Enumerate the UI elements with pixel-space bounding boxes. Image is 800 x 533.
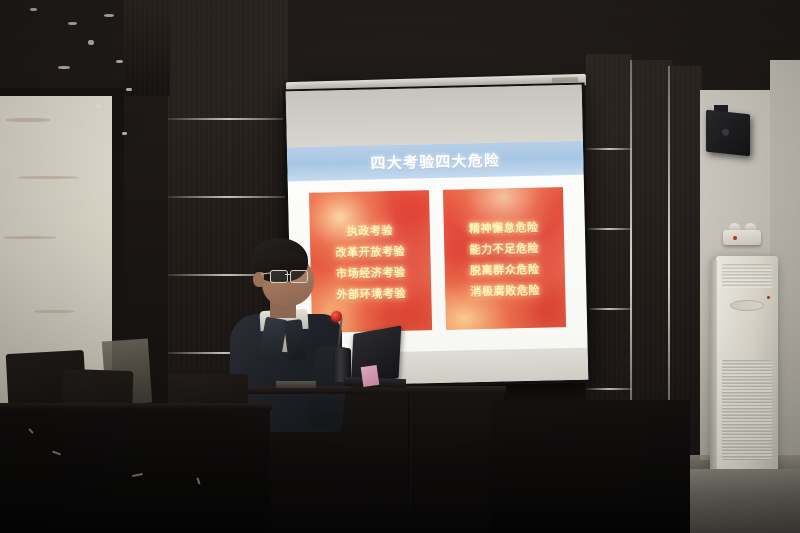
- ac-brand-badge: [730, 300, 764, 311]
- four-dangers-line-3: 脱离群众危险: [470, 260, 540, 278]
- four-dangers-line-1: 精神懈怠危险: [469, 218, 539, 236]
- pink-desk-item[interactable]: [361, 365, 380, 387]
- chrome-trim-h-6: [586, 228, 632, 230]
- chrome-trim-h-7: [586, 308, 632, 310]
- ac-intake-grille: [722, 360, 772, 460]
- board-smudge-3: [4, 236, 56, 239]
- glasses-lens-right: [290, 270, 308, 283]
- four-dangers-lines: 精神懈怠危险 能力不足危险 脱离群众危险 消极腐败危险: [443, 187, 566, 330]
- wall-mounted-loudspeaker: [706, 110, 750, 157]
- microphone-head-icon[interactable]: [331, 311, 342, 322]
- ac-power-led-icon: [767, 296, 770, 299]
- board-smudge-1: [6, 118, 50, 122]
- ac-outlet-grille: [722, 264, 772, 288]
- wall-speck-4: [104, 14, 114, 17]
- four-dangers-line-2: 能力不足危险: [469, 239, 539, 257]
- presenter-table-edge: [234, 386, 506, 394]
- board-smudge-4: [34, 310, 74, 313]
- wall-speck-2: [68, 22, 77, 25]
- speaker-driver-icon: [722, 128, 729, 136]
- presenter-glasses-icon: [270, 270, 312, 281]
- board-smudge-2: [18, 176, 78, 179]
- emergency-indicator-icon: [733, 236, 737, 240]
- wall-speck-7: [58, 66, 70, 69]
- screen-blank-top: [286, 85, 583, 150]
- wall-speck-9: [122, 132, 127, 135]
- wall-speck-5: [116, 60, 123, 63]
- ac-side-face: [710, 260, 717, 470]
- wall-speck-8: [96, 104, 101, 108]
- glasses-lens-left: [270, 270, 288, 283]
- foreground-table-edge: [0, 403, 272, 410]
- presenter-forehead-shading: [262, 252, 308, 266]
- four-tests-line-3: 市场经济考验: [336, 263, 406, 281]
- glasses-bridge: [285, 274, 291, 275]
- right-foreground-surface: [490, 400, 690, 533]
- chrome-trim-h-2: [168, 196, 288, 198]
- four-dangers-line-4: 消极腐败危险: [470, 281, 540, 299]
- four-dangers-panel: 精神懈怠危险 能力不足危险 脱离群众危险 消极腐败危险: [443, 187, 566, 330]
- slide-title: 四大考验四大危险: [370, 149, 500, 173]
- chrome-trim-h-5: [586, 148, 632, 150]
- chrome-trim-h-8: [586, 388, 632, 390]
- wood-panel-6: [124, 0, 170, 96]
- foreground-table: [0, 405, 270, 533]
- papers-on-table[interactable]: [276, 381, 316, 388]
- chrome-trim-h-1: [168, 118, 288, 120]
- emergency-exit-light: [723, 230, 761, 245]
- wall-speck-1: [30, 8, 37, 11]
- four-tests-line-1: 执政考验: [346, 221, 393, 238]
- power-cable: [408, 392, 410, 512]
- wall-speck-3: [88, 40, 94, 45]
- wall-speck-6: [126, 88, 132, 91]
- slide-title-band: 四大考验四大危险: [287, 141, 584, 182]
- conference-room-photo: 四大考验四大危险 执政考验 改革开放考验 市场经济考验 外部环境考验: [0, 0, 800, 533]
- four-tests-line-4: 外部环境考验: [336, 284, 406, 302]
- floor-standing-air-conditioner[interactable]: [716, 256, 778, 472]
